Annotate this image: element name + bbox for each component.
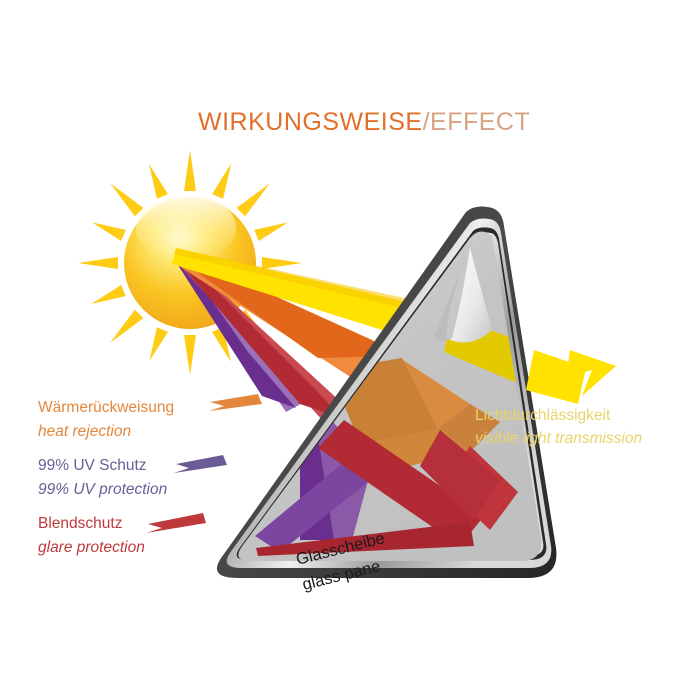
label-heat-rejection: Wärmerückweisung heat rejection bbox=[38, 399, 174, 440]
svg-text:WIRKUNGSWEISE/EFFECT: WIRKUNGSWEISE/EFFECT bbox=[198, 108, 530, 136]
page-title: WIRKUNGSWEISE/EFFECT bbox=[198, 108, 530, 136]
infographic-canvas: WIRKUNGSWEISE/EFFECT bbox=[0, 0, 700, 700]
label-glare-en: glare protection bbox=[38, 539, 145, 556]
label-uv-protection: 99% UV Schutz 99% UV protection bbox=[38, 457, 167, 498]
title-german: WIRKUNGSWEISE bbox=[198, 108, 423, 136]
label-glare-protection: Blendschutz glare protection bbox=[38, 515, 145, 556]
label-heat-de: Wärmerückweisung bbox=[38, 399, 174, 416]
arrow-glare-protection bbox=[146, 513, 206, 533]
label-heat-en: heat rejection bbox=[38, 423, 131, 440]
arrow-uv-protection bbox=[174, 455, 227, 473]
arrow-heat-rejection bbox=[209, 394, 262, 411]
label-light-de: Lichtdurchlässigkeit bbox=[475, 407, 611, 424]
label-light-en: visible light transmission bbox=[475, 430, 642, 447]
label-glare-de: Blendschutz bbox=[38, 515, 122, 532]
label-uv-en: 99% UV protection bbox=[38, 481, 167, 498]
title-english: EFFECT bbox=[430, 108, 530, 136]
effect-diagram: WIRKUNGSWEISE/EFFECT bbox=[0, 0, 700, 700]
label-uv-de: 99% UV Schutz bbox=[38, 457, 147, 474]
title-separator: / bbox=[423, 108, 430, 136]
